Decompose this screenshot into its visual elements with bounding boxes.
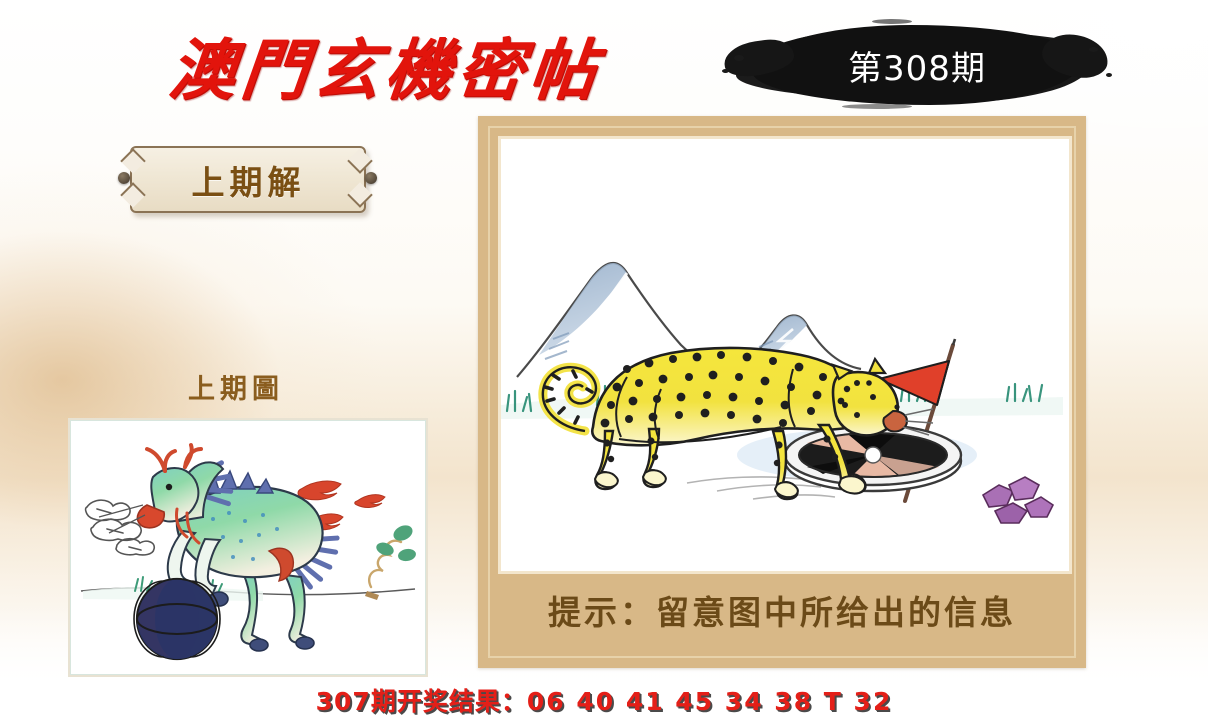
prev-picture-caption: 上期圖 [188,367,284,406]
plaque-label: 上期解 [116,142,381,217]
draw-result-label: 307期开奖结果： [316,687,527,716]
draw-result-line: 307期开奖结果：06 40 41 45 34 38 T 32 [0,682,1208,718]
draw-result-numbers: 06 40 41 45 34 38 T 32 [527,687,893,716]
hint-text: 提示：留意图中所给出的信息 [478,586,1086,634]
issue-badge: 第308期 [752,25,1082,105]
prev-answer-plaque[interactable]: 上期解 [116,142,381,217]
qilin-illustration [73,423,423,672]
main-picture-frame[interactable] [498,136,1072,574]
prev-picture-canvas [73,423,423,672]
leopard-illustration [501,139,1063,565]
ink-splatter-dot [722,69,729,73]
prev-picture-frame[interactable] [68,418,428,677]
poster-page: 澳門玄機密帖 第308期 上期解 上期圖 [0,0,1208,724]
page-title-text: 澳門玄機密帖 [165,17,607,113]
ink-splatter-dot [1106,73,1112,77]
ink-splatter-dot [1089,47,1098,52]
page-title: 澳門玄機密帖 [170,22,730,108]
issue-badge-label: 第308期 [752,25,1082,105]
ink-splatter-dot [734,55,744,61]
main-picture-panel: 提示：留意图中所给出的信息 [478,116,1086,668]
ink-splatter-dot [872,19,912,24]
